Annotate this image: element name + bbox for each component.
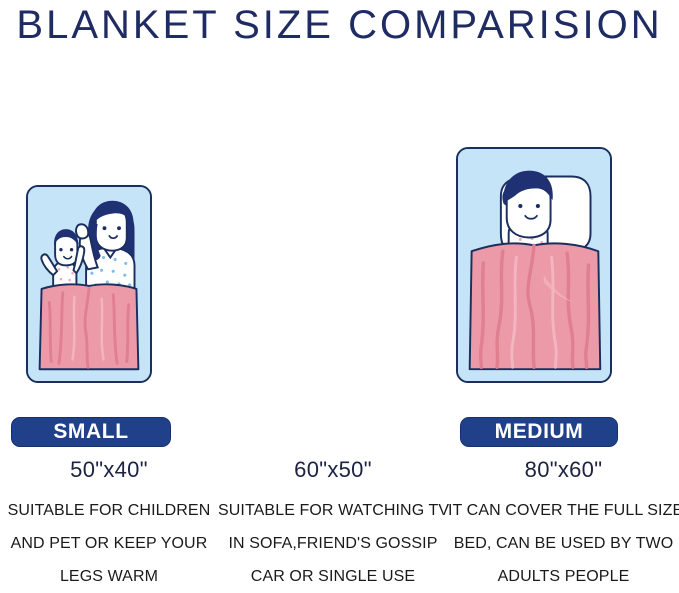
description-line: SUITABLE FOR CHILDREN (0, 494, 218, 527)
illustration-panel-small (26, 185, 152, 383)
description-line: LEGS WARM (0, 560, 218, 593)
dimension-text-medium: 60"x50" (218, 457, 448, 483)
dimension-text-small: 50"x40" (0, 457, 218, 483)
size-badge-small[interactable]: SMALL (11, 417, 171, 447)
size-column-large: LARGE 80"x60" IT CAN COVER THE FULL SIZE… (448, 0, 679, 591)
description-line: ADULTS PEOPLE (448, 560, 679, 593)
description-line: AND PET OR KEEP YOUR (0, 527, 218, 560)
description-line: IT CAN COVER THE FULL SIZE (448, 494, 679, 527)
description-small: SUITABLE FOR CHILDREN AND PET OR KEEP YO… (0, 494, 218, 593)
illustration-woman-and-child-icon (28, 187, 150, 381)
description-line: CAR OR SINGLE USE (218, 560, 448, 593)
description-line: SUITABLE FOR WATCHING TV (218, 494, 448, 527)
description-large: IT CAN COVER THE FULL SIZE BED, CAN BE U… (448, 494, 679, 593)
size-column-medium: MEDIUM 60"x50" SUITABLE FOR WATCHING TV … (218, 0, 448, 591)
size-column-small: SMALL 50"x40" SUITABLE FOR CHILDREN AND … (0, 0, 218, 591)
dimension-text-large: 80"x60" (448, 457, 679, 483)
description-line: BED, CAN BE USED BY TWO (448, 527, 679, 560)
description-line: IN SOFA,FRIEND'S GOSSIP (218, 527, 448, 560)
description-medium: SUITABLE FOR WATCHING TV IN SOFA,FRIEND'… (218, 494, 448, 593)
